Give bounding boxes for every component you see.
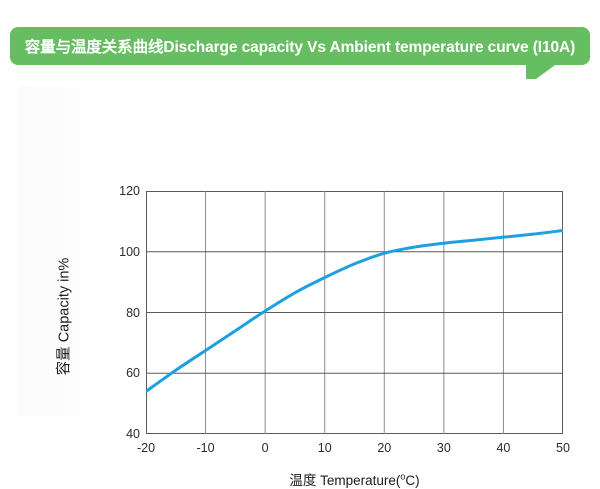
x-axis-title: 温度 Temperature(oC) xyxy=(146,469,563,489)
y-axis-title: 容量 Capacity in% xyxy=(53,217,74,417)
x-axis-tick-label: 20 xyxy=(354,441,414,455)
page-title: 容量与温度关系曲线Discharge capacity Vs Ambient t… xyxy=(10,27,590,65)
x-axis-tick-label: 50 xyxy=(533,441,593,455)
y-axis-tick-label: 60 xyxy=(100,366,140,380)
chart-svg xyxy=(146,191,563,434)
x-axis-tick-label: 40 xyxy=(473,441,533,455)
chart-container: 406080100120 -20-1001020304050 温度 Temper… xyxy=(18,86,582,416)
y-axis-tick-label: 40 xyxy=(100,427,140,441)
x-axis-tick-label: -10 xyxy=(176,441,236,455)
x-axis-tick-label: 30 xyxy=(414,441,474,455)
x-axis-tick-label: 10 xyxy=(295,441,355,455)
x-axis-tick-label: -20 xyxy=(116,441,176,455)
data-line-discharge-capacity xyxy=(146,230,563,391)
x-axis-title-unit: C) xyxy=(405,473,419,488)
y-axis-tick-label: 100 xyxy=(100,245,140,259)
gridlines xyxy=(146,191,563,434)
x-axis-title-main: 温度 Temperature( xyxy=(289,473,400,488)
y-axis-ticks: 406080100120 xyxy=(96,191,140,434)
y-axis-tick-label: 120 xyxy=(100,184,140,198)
y-axis-tick-label: 80 xyxy=(100,306,140,320)
plot-area xyxy=(146,191,563,434)
x-axis-ticks: -20-1001020304050 xyxy=(146,441,563,461)
title-banner: 容量与温度关系曲线Discharge capacity Vs Ambient t… xyxy=(10,27,590,65)
title-banner-tail-icon xyxy=(526,63,558,79)
x-axis-tick-label: 0 xyxy=(235,441,295,455)
